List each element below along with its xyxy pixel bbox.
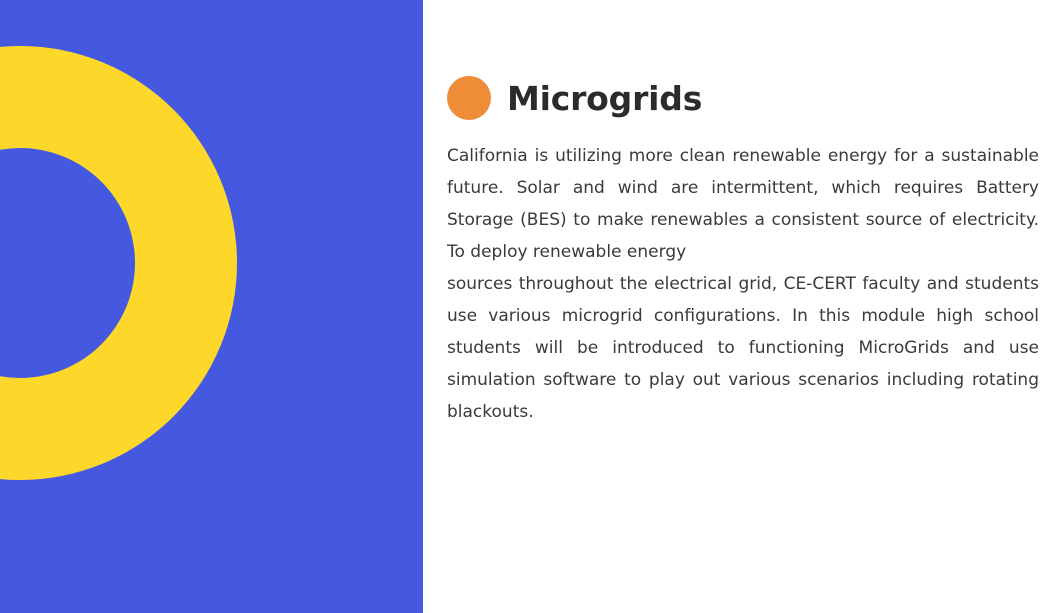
body-paragraph-2: sources throughout the electrical grid, … [447,268,1039,428]
page-title: Microgrids [507,82,702,115]
body-text-block: California is utilizing more clean renew… [447,140,1039,428]
donut-ring-graphic [0,46,237,480]
content-body: Microgrids California is utilizing more … [447,70,1039,428]
donut-ring-hole [0,148,135,378]
left-decorative-panel [0,0,423,613]
filled-circle-icon [447,76,491,120]
heading-row: Microgrids [447,70,1039,126]
content-panel: Microgrids California is utilizing more … [423,0,1053,613]
body-paragraph-1: California is utilizing more clean renew… [447,140,1039,268]
slide-root: Microgrids California is utilizing more … [0,0,1053,613]
